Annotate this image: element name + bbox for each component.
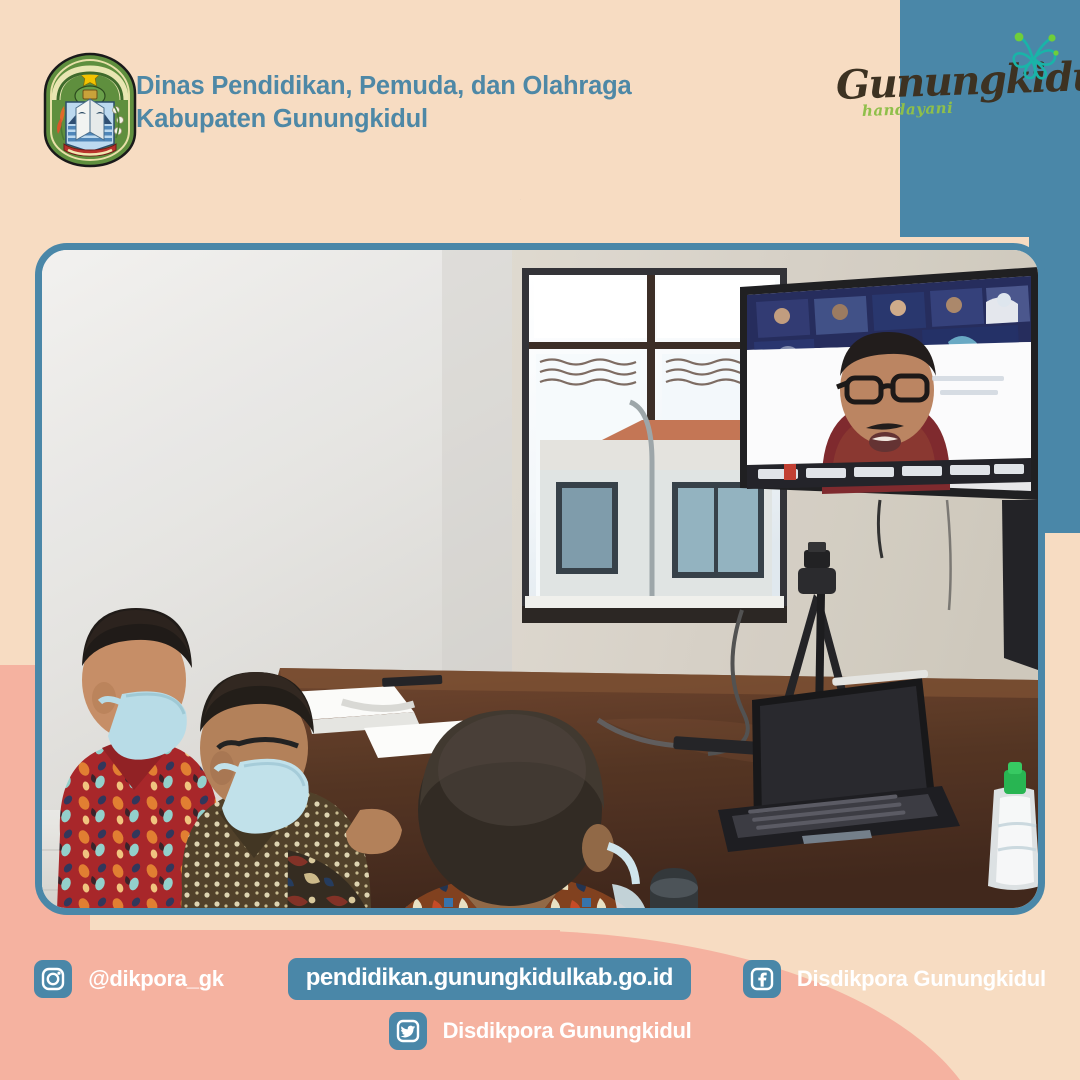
facebook-icon[interactable] (743, 960, 781, 998)
org-title-line2: Kabupaten Gunungkidul (136, 103, 696, 136)
gunungkidul-brand-logo: Gunungkidul handayani (836, 30, 1066, 140)
butterfly-dot-small (1053, 50, 1058, 55)
butterfly-dot-right (1048, 34, 1055, 41)
butterfly-icon (1006, 30, 1062, 82)
footer-row-1: @dikpora_gk pendidikan.gunungkidulkab.go… (0, 958, 1080, 1000)
instagram-handle[interactable]: @dikpora_gk (88, 966, 224, 992)
coat-of-arms-icon (40, 52, 140, 168)
brand-tagline: handayani (862, 99, 954, 120)
website-url[interactable]: pendidikan.gunungkidulkab.go.id (288, 958, 691, 1000)
twitter-icon[interactable] (389, 1012, 427, 1050)
footer-row-2: Disdikpora Gunungkidul (0, 1012, 1080, 1050)
twitter-handle-name[interactable]: Disdikpora Gunungkidul (443, 1018, 692, 1044)
footer: @dikpora_gk pendidikan.gunungkidulkab.go… (0, 940, 1080, 1070)
header: Dinas Pendidikan, Pemuda, dan Olahraga K… (0, 0, 1080, 200)
social-post-canvas: Dinas Pendidikan, Pemuda, dan Olahraga K… (0, 0, 1080, 1080)
page-title: Dinas Pendidikan, Pemuda, dan Olahraga K… (136, 70, 696, 136)
meeting-room-photo (42, 250, 1038, 908)
butterfly-dot-left (1015, 33, 1024, 42)
instagram-icon[interactable] (34, 960, 72, 998)
org-title-line1: Dinas Pendidikan, Pemuda, dan Olahraga (136, 70, 696, 103)
photo-card (35, 243, 1045, 915)
facebook-page-name[interactable]: Disdikpora Gunungkidul (797, 966, 1046, 992)
